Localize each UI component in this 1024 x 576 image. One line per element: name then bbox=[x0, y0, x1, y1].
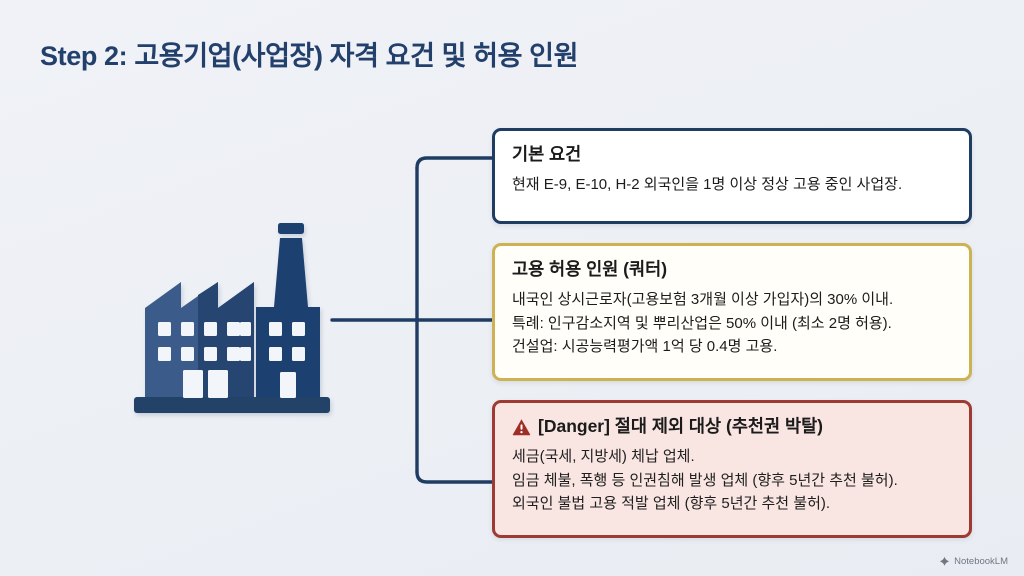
factory-base bbox=[134, 397, 330, 413]
card-basic-requirements: 기본 요건 현재 E-9, E-10, H-2 외국인을 1명 이상 정상 고용… bbox=[492, 128, 972, 224]
slide-canvas: Step 2: 고용기업(사업장) 자격 요건 및 허용 인원 bbox=[0, 0, 1024, 576]
card-basic-title: 기본 요건 bbox=[512, 144, 952, 166]
card-danger-line-1: 세금(국세, 지방세) 체납 업체. bbox=[512, 445, 952, 469]
watermark-label: NotebookLM bbox=[954, 556, 1008, 567]
page-title: Step 2: 고용기업(사업장) 자격 요건 및 허용 인원 bbox=[40, 34, 578, 73]
factory-illustration bbox=[128, 212, 353, 427]
card-danger-line-2: 임금 체불, 폭행 등 인권침해 발생 업체 (향후 5년간 추천 불허). bbox=[512, 469, 952, 493]
factory-icon bbox=[128, 212, 353, 427]
bracket-connector bbox=[330, 120, 505, 560]
card-quota-line-1: 내국인 상시근로자(고용보험 3개월 이상 가입자)의 30% 이내. bbox=[512, 288, 952, 312]
card-basic-line-1: 현재 E-9, E-10, H-2 외국인을 1명 이상 정상 고용 중인 사업… bbox=[512, 173, 952, 197]
connector-branch-3 bbox=[417, 472, 493, 482]
card-quota-title: 고용 허용 인원 (쿼터) bbox=[512, 259, 952, 281]
chimney-cap bbox=[278, 223, 304, 234]
card-quota-line-3: 건설업: 시공능력평가액 1억 당 0.4명 고용. bbox=[512, 335, 952, 359]
warning-triangle-icon bbox=[512, 418, 531, 436]
chimney bbox=[274, 238, 308, 307]
card-danger-line-3: 외국인 불법 고용 적발 업체 (향후 5년간 추천 불허). bbox=[512, 492, 952, 516]
card-danger-exclusions: [Danger] 절대 제외 대상 (추천권 박탈) 세금(국세, 지방세) 체… bbox=[492, 400, 972, 538]
card-danger-title-row: [Danger] 절대 제외 대상 (추천권 박탈) bbox=[512, 416, 952, 438]
card-danger-title: [Danger] 절대 제외 대상 (추천권 박탈) bbox=[538, 416, 823, 438]
card-quota: 고용 허용 인원 (쿼터) 내국인 상시근로자(고용보험 3개월 이상 가입자)… bbox=[492, 243, 972, 381]
watermark: NotebookLM bbox=[939, 556, 1008, 567]
card-quota-line-2: 특례: 인구감소지역 및 뿌리산업은 50% 이내 (최소 2명 허용). bbox=[512, 312, 952, 336]
connector-branch-1 bbox=[417, 158, 493, 168]
notebooklm-spark-icon bbox=[939, 556, 950, 567]
